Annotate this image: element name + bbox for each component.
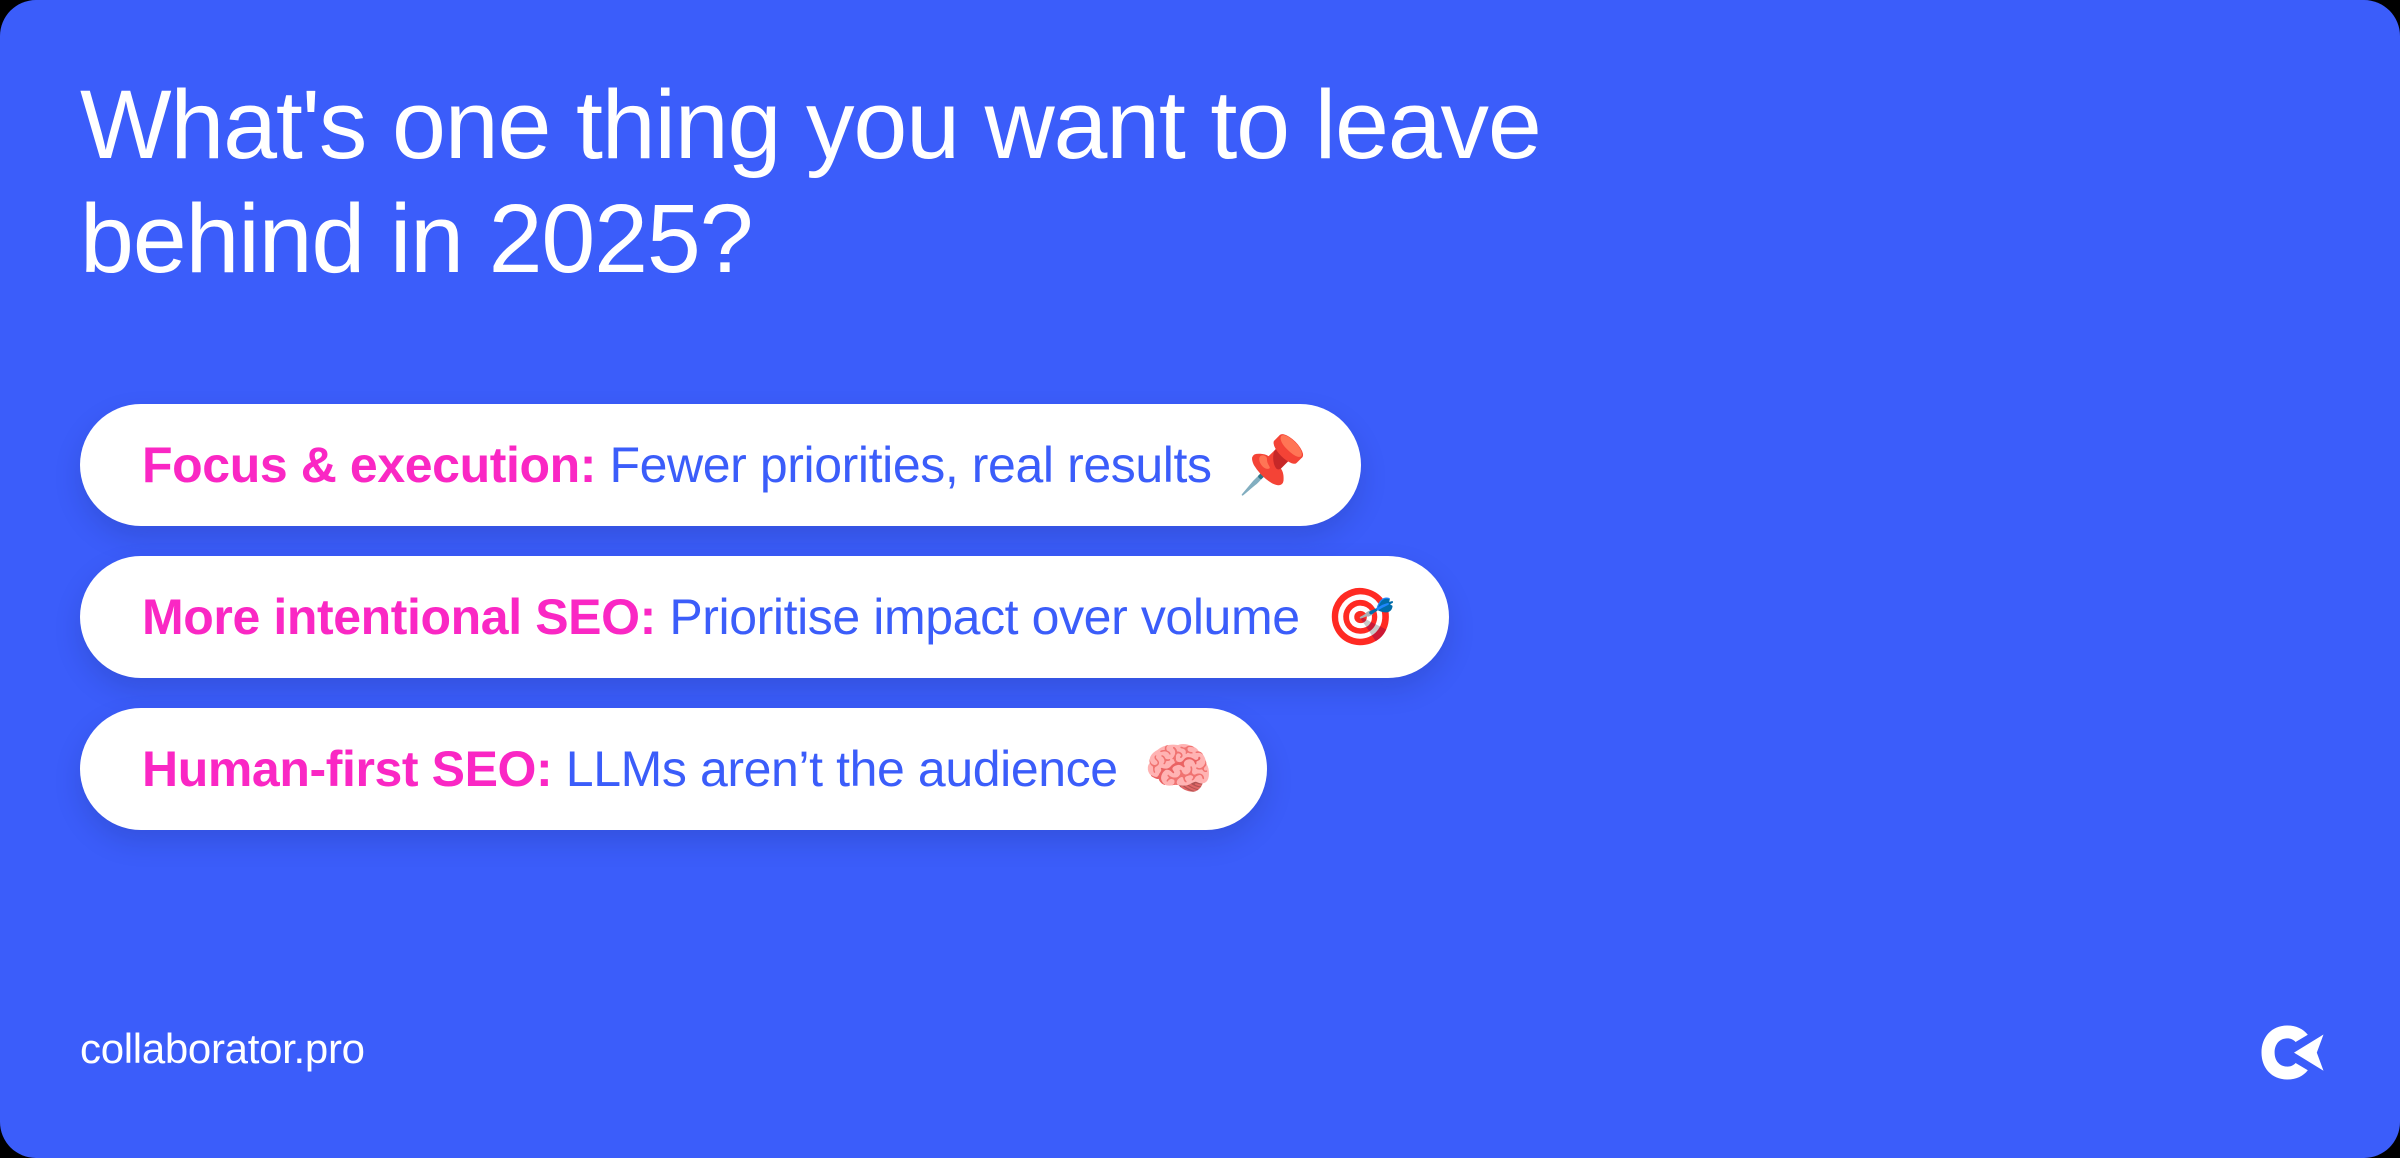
card-description: Fewer priorities, real results: [596, 437, 1212, 493]
list-item[interactable]: More intentional SEO: Prioritise impact …: [80, 556, 1449, 678]
direct-hit-target-emoji: 🎯: [1326, 589, 1396, 645]
card-description: Prioritise impact over volume: [656, 589, 1300, 645]
card-description: LLMs aren’t the audience: [552, 741, 1117, 797]
card-label: Focus & execution:: [142, 437, 596, 493]
card-label: More intentional SEO:: [142, 589, 656, 645]
social-card-canvas: What's one thing you want to leave behin…: [0, 0, 2400, 1158]
brain-emoji: 🧠: [1144, 741, 1214, 797]
pushpin-emoji: 📌: [1238, 437, 1308, 493]
collaborator-c-arrow-logo: [2254, 1022, 2328, 1084]
footer-domain: collaborator.pro: [80, 1028, 365, 1070]
answer-card-list: Focus & execution: Fewer priorities, rea…: [80, 404, 1449, 830]
list-item[interactable]: Focus & execution: Fewer priorities, rea…: [80, 404, 1361, 526]
card-text: Focus & execution: Fewer priorities, rea…: [142, 438, 1212, 492]
page-title: What's one thing you want to leave behin…: [80, 68, 1980, 297]
card-text: Human-first SEO: LLMs aren’t the audienc…: [142, 742, 1118, 796]
card-text: More intentional SEO: Prioritise impact …: [142, 590, 1300, 644]
list-item[interactable]: Human-first SEO: LLMs aren’t the audienc…: [80, 708, 1267, 830]
card-label: Human-first SEO:: [142, 741, 552, 797]
